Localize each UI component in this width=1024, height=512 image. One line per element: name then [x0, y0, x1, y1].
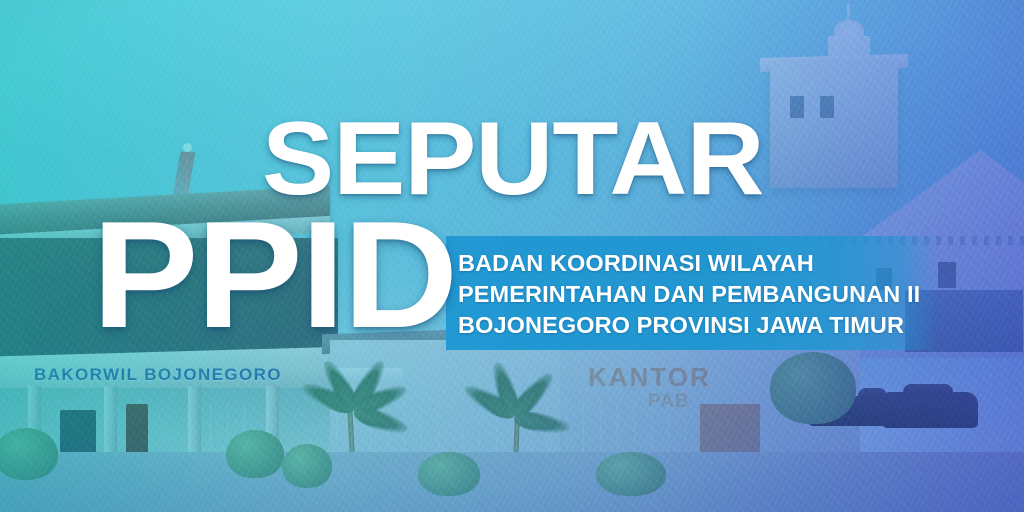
caption-line-2: PEMERINTAHAN DAN PEMBANGUNAN II: [458, 279, 920, 310]
caption-line-1: BADAN KOORDINASI WILAYAH: [458, 248, 920, 279]
caption-text-block: BADAN KOORDINASI WILAYAH PEMERINTAHAN DA…: [458, 248, 920, 341]
caption-line-3: BOJONEGORO PROVINSI JAWA TIMUR: [458, 310, 920, 341]
seputar-ppid-banner: BAKORWIL BOJONEGORO KANTOR PAB: [0, 0, 1024, 512]
headline-ppid: PPID: [92, 206, 456, 346]
